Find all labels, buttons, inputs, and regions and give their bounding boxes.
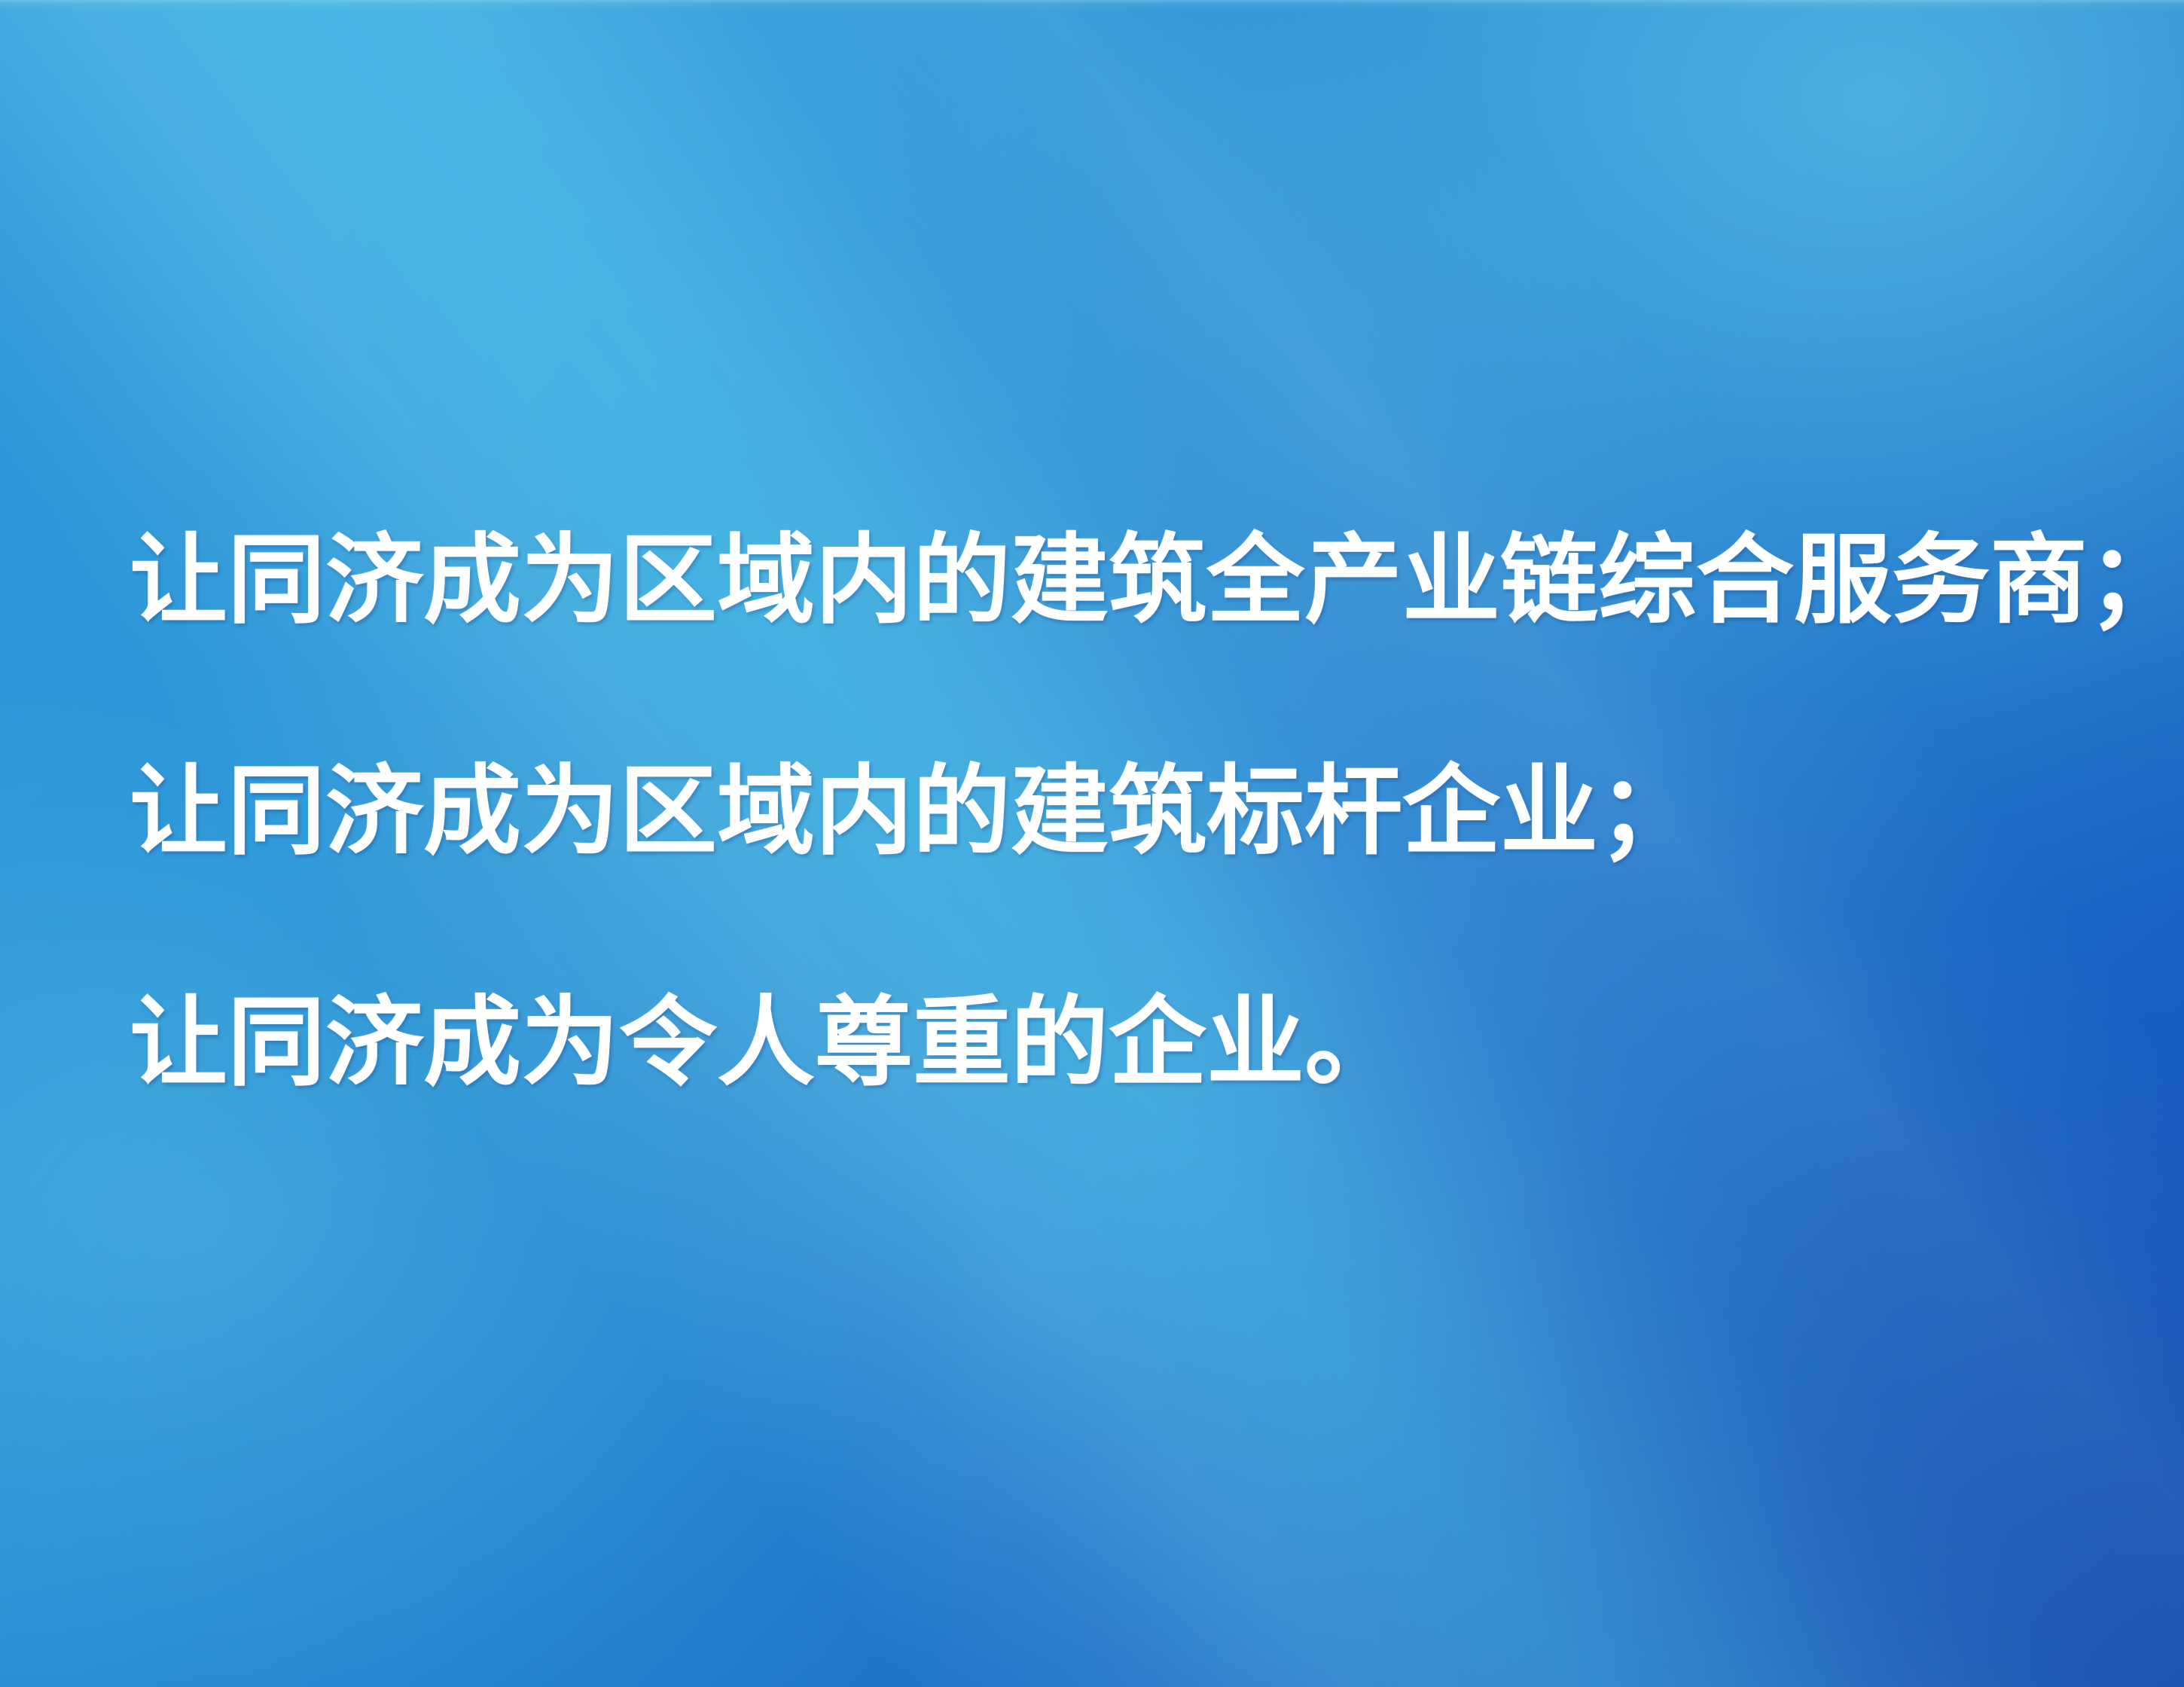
slide-text-block: 让同济成为区域内的建筑全产业链综合服务商； 让同济成为区域内的建筑标杆企业； 让… xyxy=(130,464,2118,1158)
slide-body-line-2: 让同济成为区域内的建筑标杆企业； xyxy=(130,695,2118,926)
slide-body-line-3: 让同济成为令人尊重的企业。 xyxy=(130,926,2118,1158)
slide-body-line-1: 让同济成为区域内的建筑全产业链综合服务商； xyxy=(130,464,2118,695)
slide-canvas: 让同济成为区域内的建筑全产业链综合服务商； 让同济成为区域内的建筑标杆企业； 让… xyxy=(0,0,2184,1687)
